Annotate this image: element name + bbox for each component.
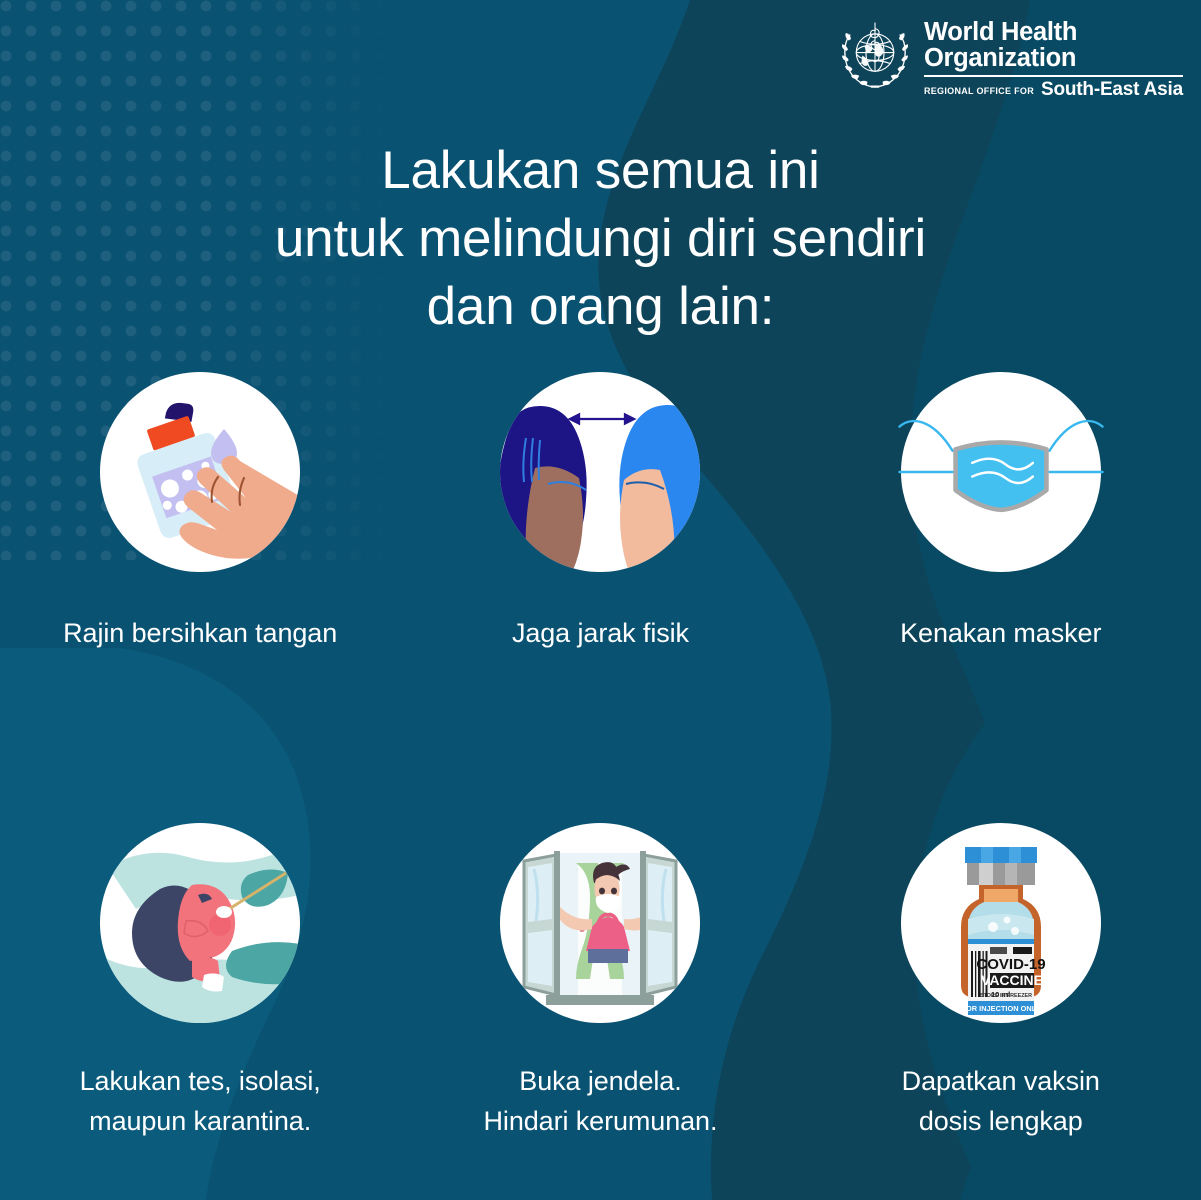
measure-caption: Jaga jarak fisik	[512, 613, 689, 653]
caption-line: Jaga jarak fisik	[512, 613, 689, 653]
measure-item-ventilate: Buka jendela. Hindari kerumunan.	[400, 823, 800, 1141]
caption-line: maupun karantina.	[80, 1101, 321, 1141]
measure-item-test-isolate: Lakukan tes, isolasi, maupun karantina.	[0, 823, 400, 1141]
measure-caption: Kenakan masker	[900, 613, 1101, 653]
logo-region: South-East Asia	[1041, 80, 1183, 99]
measure-caption: Rajin bersihkan tangan	[63, 613, 337, 653]
measure-item-physical-distance: Jaga jarak fisik	[400, 372, 800, 653]
icon-circle	[901, 372, 1101, 572]
distance-arrow	[570, 415, 634, 424]
open-window-icon	[500, 823, 700, 1023]
title-line-1: Lakukan semua ini	[0, 137, 1201, 205]
icon-circle	[100, 823, 300, 1023]
caption-line: Kenakan masker	[900, 613, 1101, 653]
vaccine-storage: STORE IN FREEZER	[980, 993, 1032, 999]
caption-line: Lakukan tes, isolasi,	[80, 1061, 321, 1101]
measure-caption: Buka jendela. Hindari kerumunan.	[484, 1061, 718, 1141]
logo-line-2: Organization	[924, 46, 1183, 72]
caption-line: Hindari kerumunan.	[484, 1101, 718, 1141]
nasal-swab-test-icon	[100, 823, 300, 1023]
measure-item-wear-mask: Kenakan masker	[801, 372, 1201, 653]
logo-divider	[924, 75, 1183, 77]
poster-title: Lakukan semua ini untuk melindungi diri …	[0, 137, 1201, 341]
icon-circle: COVID-19 VACCINE 10 ml STORE IN FREEZER …	[901, 823, 1101, 1023]
who-logo: World Health Organization REGIONAL OFFIC…	[837, 18, 1183, 99]
physical-distancing-icon	[500, 372, 700, 572]
caption-line: Buka jendela.	[484, 1061, 718, 1101]
icon-circle	[500, 372, 700, 572]
vaccine-product-line-2: VACCINE	[981, 972, 1043, 988]
measures-grid: Rajin bersihkan tangan	[0, 372, 1201, 1141]
vaccine-product-line-1: COVID-19	[976, 956, 1045, 973]
vaccine-usage: FOR INJECTION ONLY	[961, 1004, 1040, 1013]
logo-line-1: World Health	[924, 20, 1183, 46]
hand-sanitizer-icon	[100, 372, 300, 572]
window-shutter-right	[644, 855, 676, 995]
infographic-poster: World Health Organization REGIONAL OFFIC…	[0, 0, 1201, 1200]
caption-line: Dapatkan vaksin	[902, 1061, 1100, 1101]
caption-line: Rajin bersihkan tangan	[63, 613, 337, 653]
icon-circle	[500, 823, 700, 1023]
measure-item-get-vaccinated: COVID-19 VACCINE 10 ml STORE IN FREEZER …	[801, 823, 1201, 1141]
vaccine-vial-icon: COVID-19 VACCINE 10 ml STORE IN FREEZER …	[901, 823, 1101, 1023]
measures-row-1: Rajin bersihkan tangan	[0, 372, 1201, 653]
title-line-3: dan orang lain:	[0, 273, 1201, 341]
window-shutter-left	[524, 855, 556, 995]
measures-row-2: Lakukan tes, isolasi, maupun karantina.	[0, 823, 1201, 1141]
logo-regional-office-label: REGIONAL OFFICE FOR	[924, 86, 1034, 99]
title-line-2: untuk melindungi diri sendiri	[0, 205, 1201, 273]
measure-caption: Dapatkan vaksin dosis lengkap	[902, 1061, 1100, 1141]
measure-caption: Lakukan tes, isolasi, maupun karantina.	[80, 1061, 321, 1141]
icon-circle	[100, 372, 300, 572]
face-mask-icon	[901, 372, 1101, 572]
measure-item-hand-hygiene: Rajin bersihkan tangan	[0, 372, 400, 653]
who-emblem	[837, 18, 913, 96]
caption-line: dosis lengkap	[902, 1101, 1100, 1141]
